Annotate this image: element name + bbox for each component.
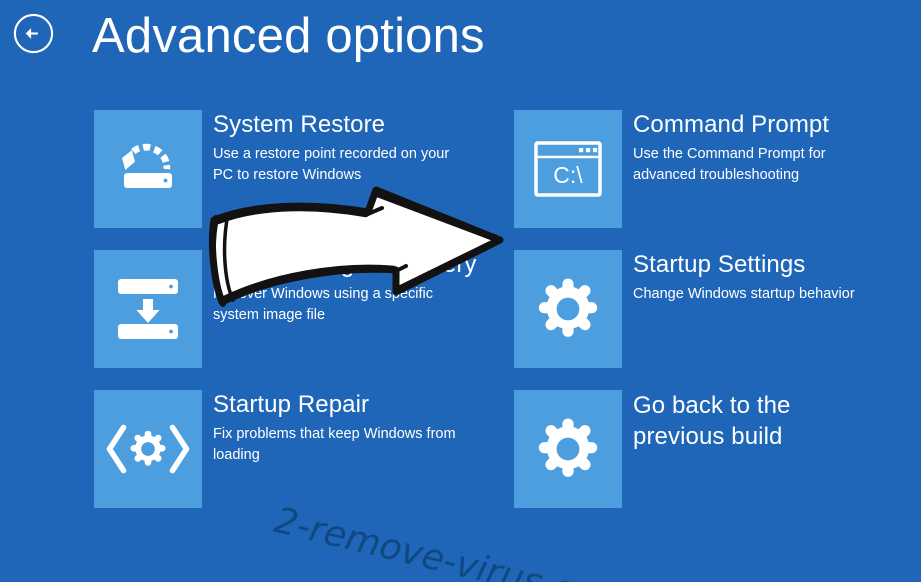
option-title: Command Prompt (633, 110, 921, 140)
option-text: System Image Recovery Recover Windows us… (213, 250, 513, 326)
back-arrow-circle-icon (13, 13, 54, 54)
option-system-restore[interactable]: System Restore Use a restore point recor… (94, 110, 514, 250)
option-tile[interactable] (94, 110, 202, 228)
gear-icon (537, 278, 599, 340)
option-text: Startup Settings Change Windows startup … (633, 250, 921, 305)
gear-icon (537, 418, 599, 480)
command-prompt-icon-text: C:\ (553, 162, 583, 188)
options-grid: System Restore Use a restore point recor… (0, 100, 921, 520)
back-button[interactable] (13, 13, 54, 54)
option-title: Startup Settings (633, 250, 921, 280)
option-tile[interactable] (514, 250, 622, 368)
option-tile[interactable] (514, 390, 622, 508)
option-description: Fix problems that keep Windows from load… (213, 424, 463, 466)
option-system-image-recovery[interactable]: System Image Recovery Recover Windows us… (94, 250, 514, 390)
system-restore-icon (112, 138, 184, 200)
option-title: Go back to the previous build (633, 390, 921, 452)
option-title: System Restore (213, 110, 513, 140)
option-go-back-previous-build[interactable]: Go back to the previous build (514, 390, 921, 530)
option-tile[interactable] (94, 250, 202, 368)
option-description: Use the Command Prompt for advanced trou… (633, 144, 883, 186)
option-description: Recover Windows using a specific system … (213, 284, 463, 326)
option-description: Use a restore point recorded on your PC … (213, 144, 463, 186)
option-text: Go back to the previous build (633, 390, 921, 456)
option-text: Command Prompt Use the Command Prompt fo… (633, 110, 921, 186)
option-title: System Image Recovery (213, 250, 513, 280)
option-description: Change Windows startup behavior (633, 284, 883, 305)
option-command-prompt[interactable]: C:\ Command Prompt Use the Command Promp… (514, 110, 921, 250)
advanced-options-screen: Advanced options (0, 0, 921, 582)
page-title: Advanced options (92, 2, 485, 70)
option-startup-repair[interactable]: Startup Repair Fix problems that keep Wi… (94, 390, 514, 530)
option-startup-settings[interactable]: Startup Settings Change Windows startup … (514, 250, 921, 390)
command-prompt-icon: C:\ (534, 141, 602, 197)
option-title: Startup Repair (213, 390, 513, 420)
header: Advanced options (0, 0, 921, 90)
option-tile[interactable] (94, 390, 202, 508)
option-text: System Restore Use a restore point recor… (213, 110, 513, 186)
option-tile[interactable]: C:\ (514, 110, 622, 228)
option-text: Startup Repair Fix problems that keep Wi… (213, 390, 513, 466)
startup-repair-icon (105, 424, 191, 474)
system-image-recovery-icon (116, 278, 180, 340)
